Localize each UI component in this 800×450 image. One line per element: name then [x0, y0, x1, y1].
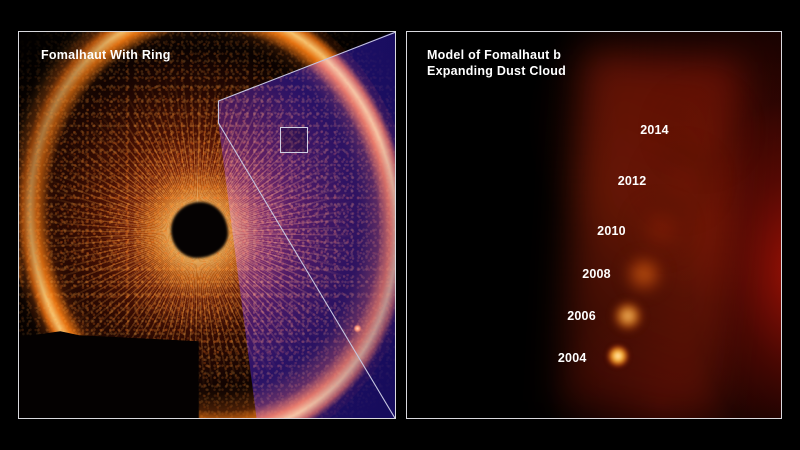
year-label-2010: 2010: [597, 224, 626, 238]
dust-cloud-blob-2004: [608, 346, 629, 367]
figure-canvas: Fomalhaut With Ring 20042006200820102012…: [0, 0, 800, 450]
right-panel-dust-cloud-model: 200420062008201020122014 Model of Fomalh…: [406, 31, 782, 419]
year-label-2006: 2006: [567, 309, 596, 323]
dust-cloud-blob-2006: [614, 302, 641, 329]
dust-cloud-blob-2008: [625, 255, 663, 293]
right-panel-title: Model of Fomalhaut b Expanding Dust Clou…: [427, 47, 566, 79]
left-panel-title: Fomalhaut With Ring: [41, 47, 171, 63]
coronagraph-occulter: [171, 202, 227, 258]
zoom-region-box: [280, 127, 308, 153]
year-label-2014: 2014: [640, 123, 669, 137]
year-label-2004: 2004: [558, 351, 587, 365]
year-label-2008: 2008: [582, 267, 611, 281]
left-panel-fomalhaut-with-ring: Fomalhaut With Ring: [18, 31, 396, 419]
year-label-2012: 2012: [618, 174, 647, 188]
detector-mask-region: [18, 329, 199, 419]
dust-cloud-blob-2014: [662, 90, 742, 170]
